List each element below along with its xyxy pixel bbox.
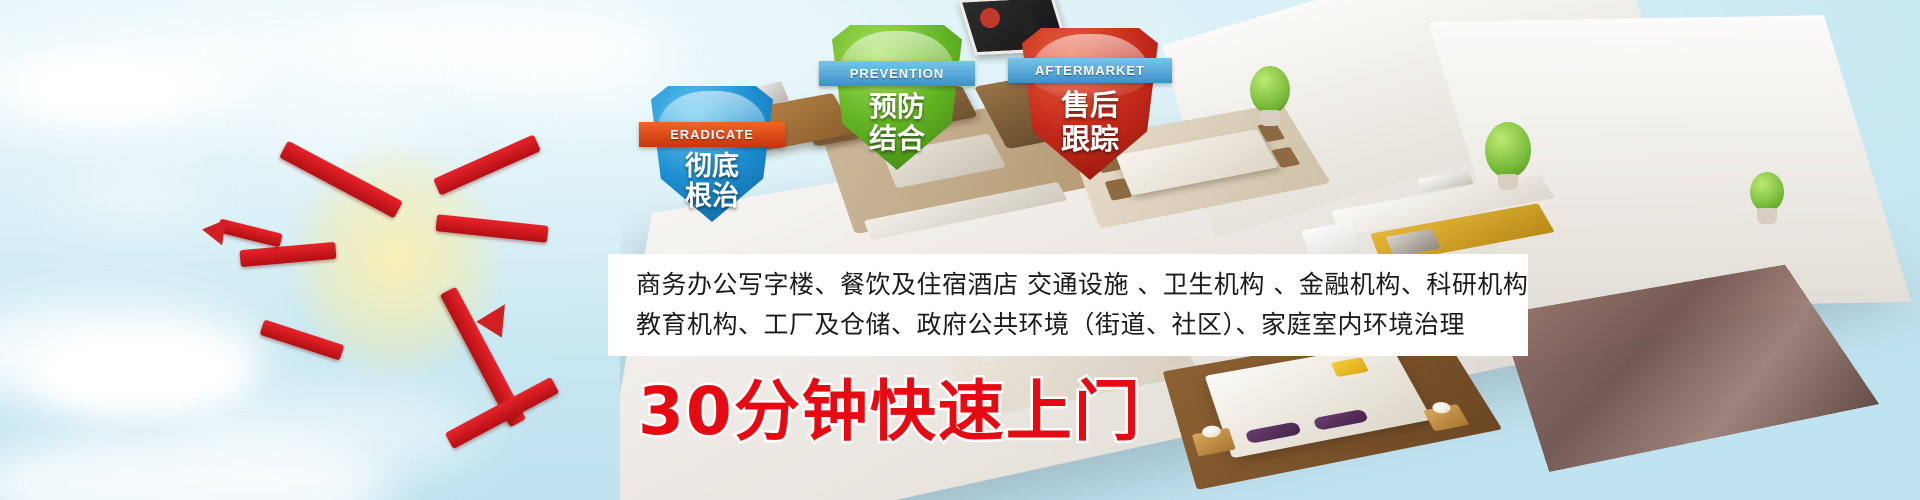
- shield-eradicate[interactable]: ERADICATE 彻底 根治: [651, 86, 773, 222]
- shield-sash: PREVENTION: [819, 61, 975, 86]
- shield-aftermarket[interactable]: AFTERMARKET 售后 跟踪: [1022, 28, 1158, 180]
- service-scope-panel: 商务办公写字楼、餐饮及住宿酒店 交通设施 、卫生机构 、金融机构、科研机构 教育…: [608, 254, 1528, 356]
- service-scope-line-1: 商务办公写字楼、餐饮及住宿酒店 交通设施 、卫生机构 、金融机构、科研机构: [636, 265, 1528, 305]
- shield-cn-line-2: 结合: [832, 117, 962, 157]
- shield-en-label: ERADICATE: [670, 127, 754, 142]
- shield-prevention[interactable]: PREVENTION 预防 结合: [832, 25, 962, 170]
- ribbon-arrow-left-icon: [200, 217, 225, 246]
- shield-en-label: PREVENTION: [850, 66, 945, 81]
- shield-sash: AFTERMARKET: [1008, 58, 1171, 83]
- shield-cn-line-2: 跟踪: [1022, 116, 1158, 158]
- golden-numeral-three: 3: [246, 96, 546, 426]
- shield-en-label: AFTERMARKET: [1035, 63, 1145, 78]
- service-scope-line-2: 教育机构、工厂及仓储、政府公共环境（街道、社区）、家庭室内环境治理: [636, 305, 1528, 345]
- banner-stage: 3 ERADICATE 彻底 根治 PREVENTION 预防: [0, 0, 1920, 500]
- headline-slogan: 30分钟快速上门: [638, 358, 1142, 454]
- shield-cn-line-2: 根治: [651, 174, 773, 213]
